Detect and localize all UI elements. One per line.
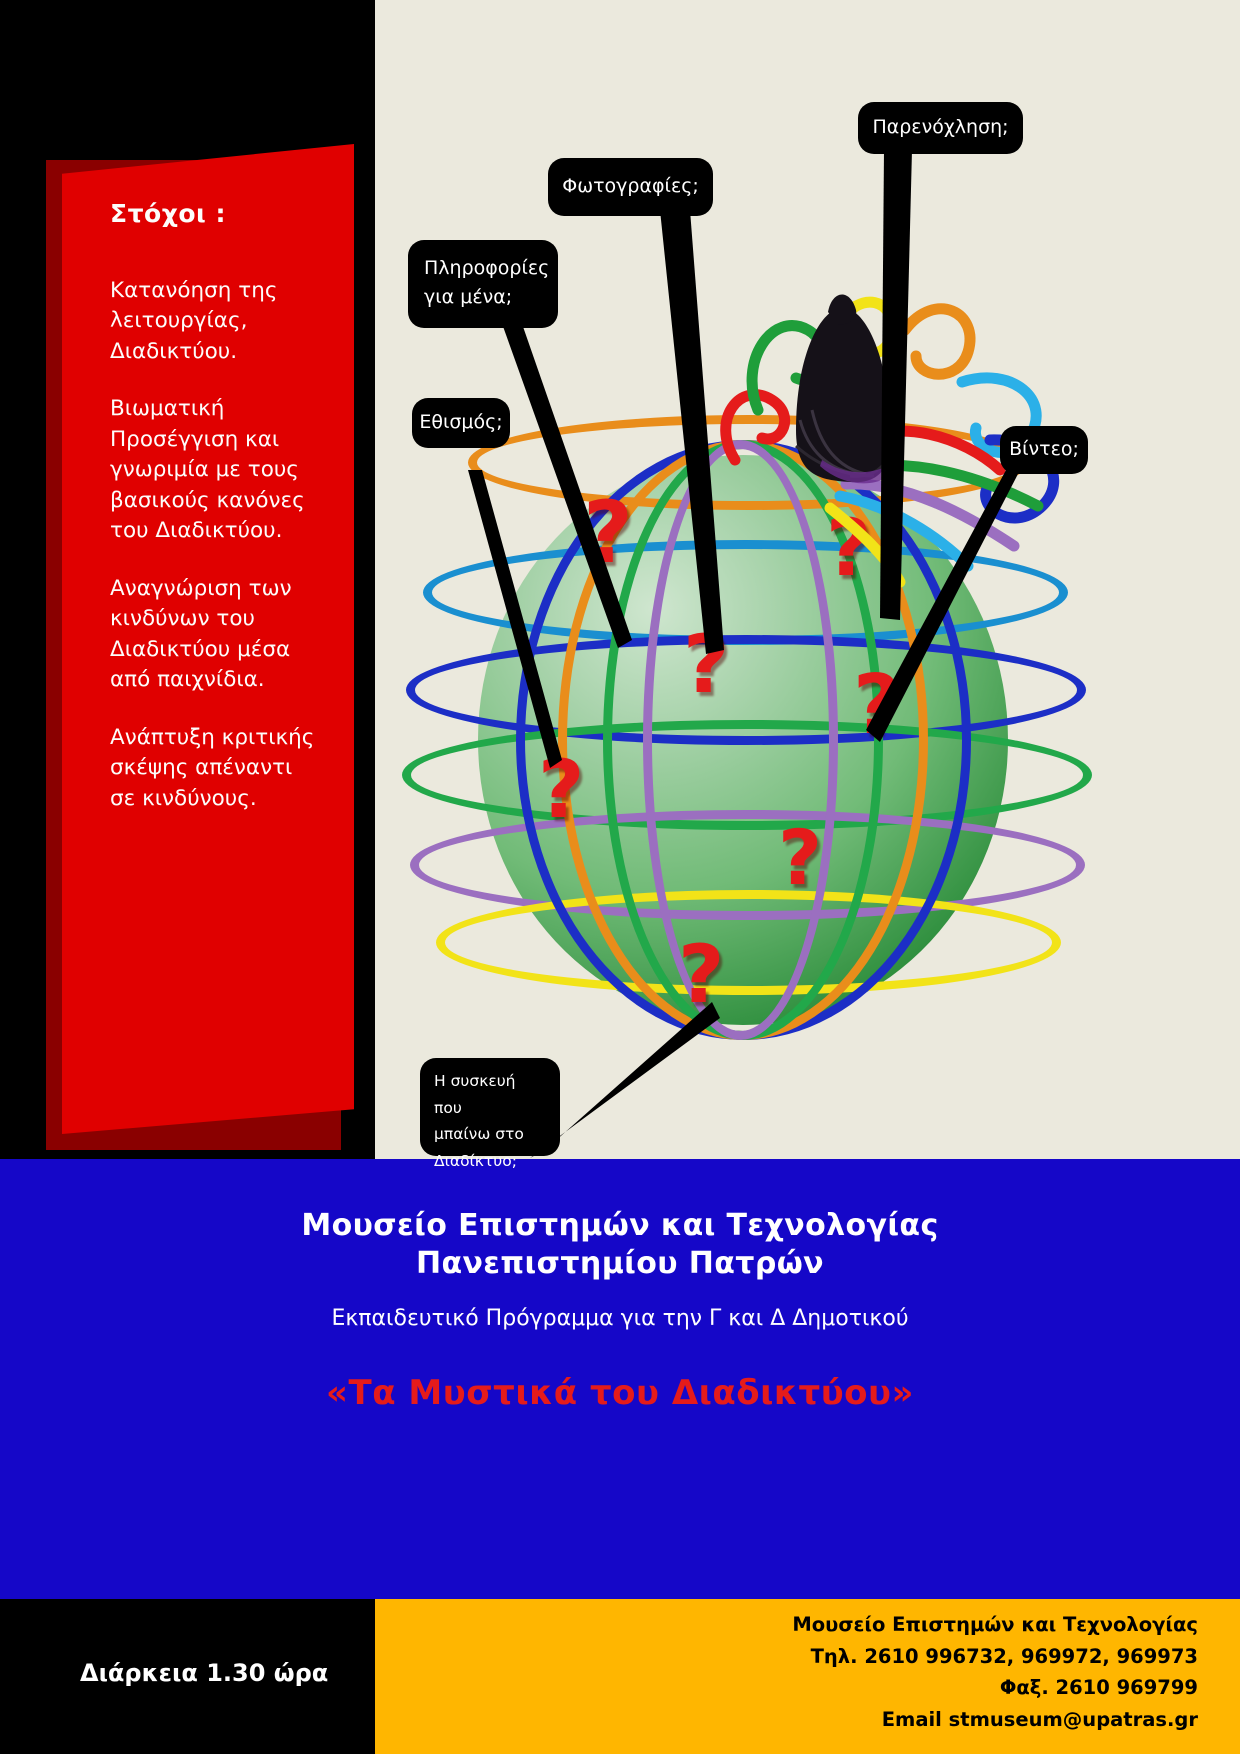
callout-photos[interactable]: Φωτογραφίες; xyxy=(548,158,713,216)
program-subtitle: Εκπαιδευτικό Πρόγραμμα για την Γ και Δ Δ… xyxy=(0,1306,1240,1331)
callout-device[interactable]: Η συσκευή που μπαίνω στο Διαδίκτυο; xyxy=(420,1058,560,1156)
duration-label: Διάρκεια 1.30 ώρα xyxy=(80,1659,328,1687)
contact-fax: Φαξ. 2610 969799 xyxy=(792,1672,1198,1704)
museum-title-line-1: Μουσείο Επιστημών και Τεχνολογίας xyxy=(0,1207,1240,1245)
contact-phone: Τηλ. 2610 996732, 969972, 969973 xyxy=(792,1641,1198,1673)
callout-video[interactable]: Βίντεο; xyxy=(1000,426,1088,474)
museum-title-line-2: Πανεπιστημίου Πατρών xyxy=(0,1245,1240,1283)
contact-email[interactable]: Email stmuseum@upatras.gr xyxy=(792,1704,1198,1736)
museum-banner: Μουσείο Επιστημών και Τεχνολογίας Πανεπι… xyxy=(0,1159,1240,1599)
callout-harassment[interactable]: Παρενόχληση; xyxy=(858,102,1023,154)
poster-root: Στόχοι : Κατανόηση της λειτουργίας, Διαδ… xyxy=(0,0,1240,1754)
leader-photos xyxy=(660,210,724,654)
leader-addiction xyxy=(468,470,562,768)
contact-panel: Μουσείο Επιστημών και Τεχνολογίας Τηλ. 2… xyxy=(375,1599,1240,1754)
program-title: «Τα Μυστικά του Διαδικτύου» xyxy=(0,1373,1240,1413)
contact-museum-name: Μουσείο Επιστημών και Τεχνολογίας xyxy=(792,1609,1198,1641)
duration-panel: Διάρκεια 1.30 ώρα xyxy=(0,1599,375,1754)
leader-harassment xyxy=(880,150,912,620)
leader-info xyxy=(500,318,632,648)
callout-addiction[interactable]: Εθισμός; xyxy=(412,398,510,448)
callout-info-about-me[interactable]: Πληροφορίες για μένα; xyxy=(408,240,558,328)
